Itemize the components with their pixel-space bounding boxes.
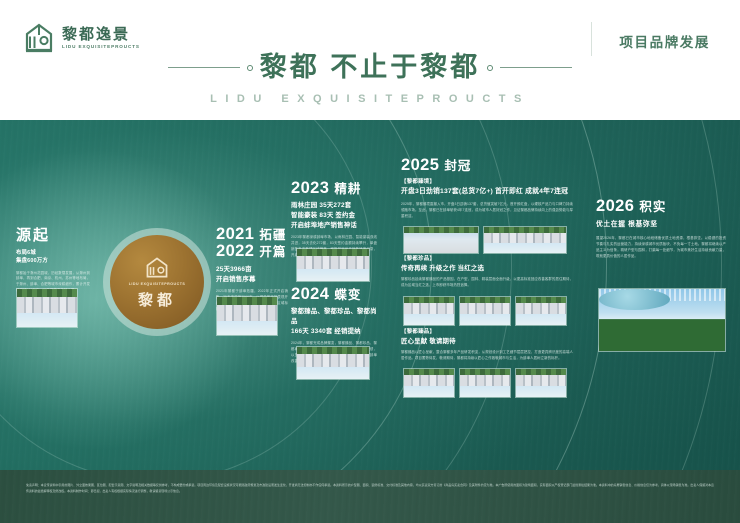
- node-photo-2026-city-park: [598, 288, 726, 352]
- node-tag: 【黎都臻境】: [401, 178, 573, 186]
- photo-trees: [217, 297, 277, 305]
- header-section-label: 项目品牌发展: [619, 31, 710, 51]
- page-footer: 免责声明：本宣传资料中引用的图片、外立面效果图、区位图、配套示意图、文字说明及相…: [0, 470, 740, 523]
- node-year: 2024蝶变: [291, 286, 377, 303]
- node-year-value: 2026: [596, 197, 634, 215]
- photo-trees: [460, 369, 510, 375]
- node-year: 源起: [16, 228, 90, 244]
- node-headline: 布局6城 集盘600万方: [16, 249, 90, 266]
- medallion-disc: LIDU EXQUISITEPROUCTS 黎都: [110, 235, 204, 329]
- node-photo-2024: [296, 346, 370, 380]
- sub-block-zhenpin: 【黎都珍品】 传奇再续 升级之作 当红之选 黎都珍品延续黎都臻品的产品基因，在户…: [401, 255, 573, 289]
- house-logo-icon: [144, 255, 170, 281]
- brand-logo: 黎都逸景 LIDU EXQUISITEPROUCTS: [24, 22, 140, 54]
- sub-tag: 【黎都臻品】: [401, 328, 573, 336]
- node-year-value: 2023: [291, 179, 329, 197]
- node-year: 2023精耕: [291, 180, 377, 197]
- node-headline: 雨林庄园 35天272套 智能豪装 83天 签约金 开启蚌埠地产销售神话: [291, 201, 377, 231]
- sub-block-zhenpin2: 【黎都臻品】 匠心呈献 敬请期待 黎都臻品以匠心呈献，整合黎都多年产品研发积淀，…: [401, 328, 573, 362]
- node-year: 2025封冠: [401, 157, 573, 174]
- title-rule-right: [500, 67, 572, 68]
- photo-trees: [404, 297, 454, 303]
- brand-name-en: LIDU EXQUISITEPROUCTS: [62, 44, 140, 50]
- node-keyword-2: 开篇: [259, 245, 286, 259]
- node-headline: 25天3966亩 开启销售序幕: [216, 265, 288, 285]
- photo-trees: [404, 369, 454, 375]
- node-year-2: 2022开篇: [216, 243, 288, 260]
- sub-tag: 【黎都珍品】: [401, 255, 573, 263]
- node-year: 2026积实: [596, 198, 726, 215]
- node-headline: 优土在握 根基弥坚: [596, 220, 726, 231]
- sub-photo: [515, 296, 567, 326]
- sub-body: 黎都臻品以匠心呈献，整合黎都多年产品研发积淀，从规划设计到工艺细节层层把控，打造…: [401, 350, 573, 362]
- node-keyword: 封冠: [444, 159, 471, 173]
- brand-name-cn: 黎都逸景: [62, 26, 140, 43]
- node-headline: 黎都臻品、黎都珍品、黎都尚品 166天 3340套 经销提纳: [291, 307, 377, 337]
- house-logo-icon: [24, 22, 54, 54]
- node-year-value: 2021: [216, 225, 254, 243]
- sub-photo: [515, 368, 567, 398]
- node-photo-2025-towers: [483, 226, 567, 254]
- sub-headline: 传奇再续 升级之作 当红之选: [401, 264, 573, 274]
- node-body: 展望2026年，黎都已在城市核心地段储备优质土地资源，根基弥坚。以稳健的投资节奏…: [596, 236, 726, 260]
- photo-trees: [484, 227, 566, 233]
- timeline-node-2025: 2025封冠 【黎都臻境】 开盘3日劲销137套(总货7亿+) 首开即红 成就4…: [401, 157, 573, 220]
- photo-trees: [17, 289, 77, 297]
- photo-trees: [516, 297, 566, 303]
- node-photo-2023: [296, 248, 370, 282]
- node-photo-origin: [16, 288, 78, 328]
- photo-trees: [404, 227, 478, 233]
- node-year-value: 2025: [401, 156, 439, 174]
- photo-lake: [599, 289, 670, 310]
- node-keyword: 精耕: [334, 182, 361, 196]
- page-header: 黎都逸景 LIDU EXQUISITEPROUCTS 项目品牌发展 黎都 不止于…: [0, 0, 740, 120]
- node-keyword: 拓疆: [259, 228, 286, 242]
- legal-disclaimer: 免责声明：本宣传资料中引用的图片、外立面效果图、区位图、配套示意图、文字说明及相…: [26, 482, 714, 494]
- footer-texture: [0, 470, 740, 523]
- node-keyword: 蝶变: [334, 288, 361, 302]
- photo-trees: [460, 297, 510, 303]
- node-year: 2021拓疆: [216, 226, 288, 243]
- node-body: 2025年，黎都臻境震撼入市，开盘3日劲销137套，总货值突破7亿元，首开即红盘…: [401, 202, 573, 220]
- main-subtitle: LIDU EXQUISITEPROUCTS: [0, 93, 740, 105]
- photo-trees: [516, 369, 566, 375]
- title-dot-right-icon: [487, 65, 493, 71]
- node-headline: 开盘3日劲销137套(总货7亿+) 首开即红 成就4年7连冠: [401, 187, 573, 198]
- medallion-en: LIDU EXQUISITEPROUCTS: [129, 282, 186, 286]
- sub-body: 黎都珍品延续黎都臻品的产品基因，在户型、园林、精装层面全面升级，以更高标准回应改…: [401, 277, 573, 289]
- sub-photo: [459, 296, 511, 326]
- timeline-node-2026: 2026积实 优土在握 根基弥坚 展望2026年，黎都已在城市核心地段储备优质土…: [596, 198, 726, 260]
- medallion-cn: 黎都: [138, 289, 176, 310]
- node-keyword: 积实: [639, 200, 666, 214]
- sub-photo: [403, 296, 455, 326]
- main-title: 黎都 不止于黎都: [260, 54, 481, 81]
- center-medallion: LIDU EXQUISITEPROUCTS 黎都: [103, 228, 211, 336]
- title-dot-left-icon: [247, 65, 253, 71]
- sub-photo: [459, 368, 511, 398]
- main-title-row: 黎都 不止于黎都: [0, 54, 740, 81]
- header-divider: [591, 22, 592, 56]
- photo-trees: [297, 249, 369, 256]
- node-photo-sales-center: [403, 226, 479, 254]
- brand-development-poster: 黎都逸景 LIDU EXQUISITEPROUCTS 项目品牌发展 黎都 不止于…: [0, 0, 740, 523]
- sub-photo: [403, 368, 455, 398]
- brand-text: 黎都逸景 LIDU EXQUISITEPROUCTS: [62, 26, 140, 50]
- sub-headline: 匠心呈献 敬请期待: [401, 337, 573, 347]
- node-photo-2022: [216, 296, 278, 336]
- node-year-value-2: 2022: [216, 242, 254, 260]
- photo-trees: [297, 347, 369, 354]
- title-rule-left: [168, 67, 240, 68]
- timeline-node-origin: 源起 布局6城 集盘600万方 黎都始于滁州花园城，历经数载发展，从滁州到蚌埠，…: [16, 228, 90, 294]
- node-year-value: 2024: [291, 285, 329, 303]
